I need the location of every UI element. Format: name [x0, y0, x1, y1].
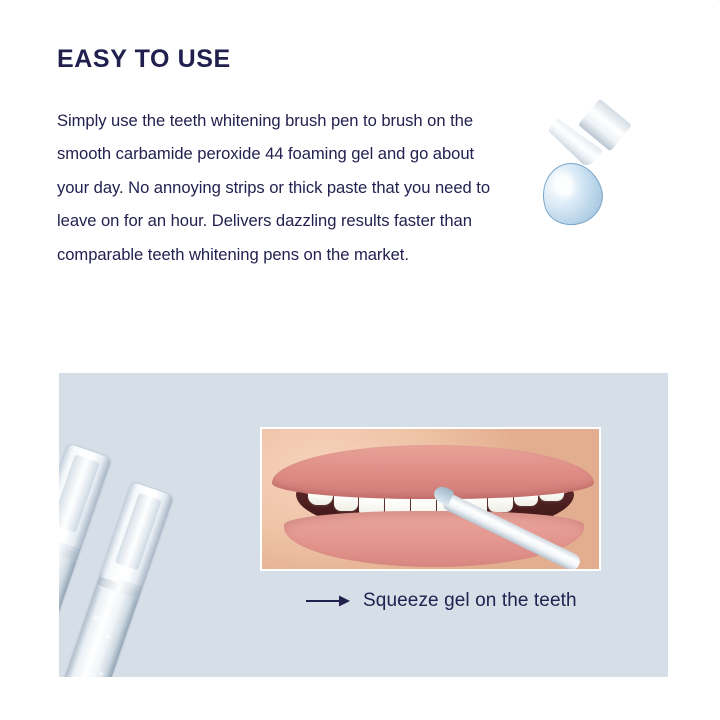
caption-text: Squeeze gel on the teeth	[363, 590, 577, 612]
pen-cap	[59, 444, 112, 550]
product-showcase-panel: BRIGHT BR	[59, 373, 668, 677]
right-arrow-icon	[305, 594, 351, 608]
pen-brush-tip	[545, 115, 603, 169]
pen-collar	[578, 99, 632, 152]
gel-droplet-highlight	[550, 169, 578, 201]
hero-pen-illustration: P	[516, 0, 720, 250]
pen-barrel-gel	[59, 586, 138, 677]
teeth-application-photo	[260, 427, 601, 571]
pen-gel-texture	[584, 0, 720, 35]
pen-barrel: P	[584, 0, 720, 35]
section-description: Simply use the teeth whitening brush pen…	[57, 104, 509, 272]
gel-droplet-icon	[534, 155, 610, 233]
intro-section: EASY TO USE Simply use the teeth whiteni…	[57, 46, 517, 271]
pen-cap	[101, 482, 174, 587]
caption: Squeeze gel on the teeth	[305, 590, 577, 612]
page-title: EASY TO USE	[57, 46, 517, 74]
